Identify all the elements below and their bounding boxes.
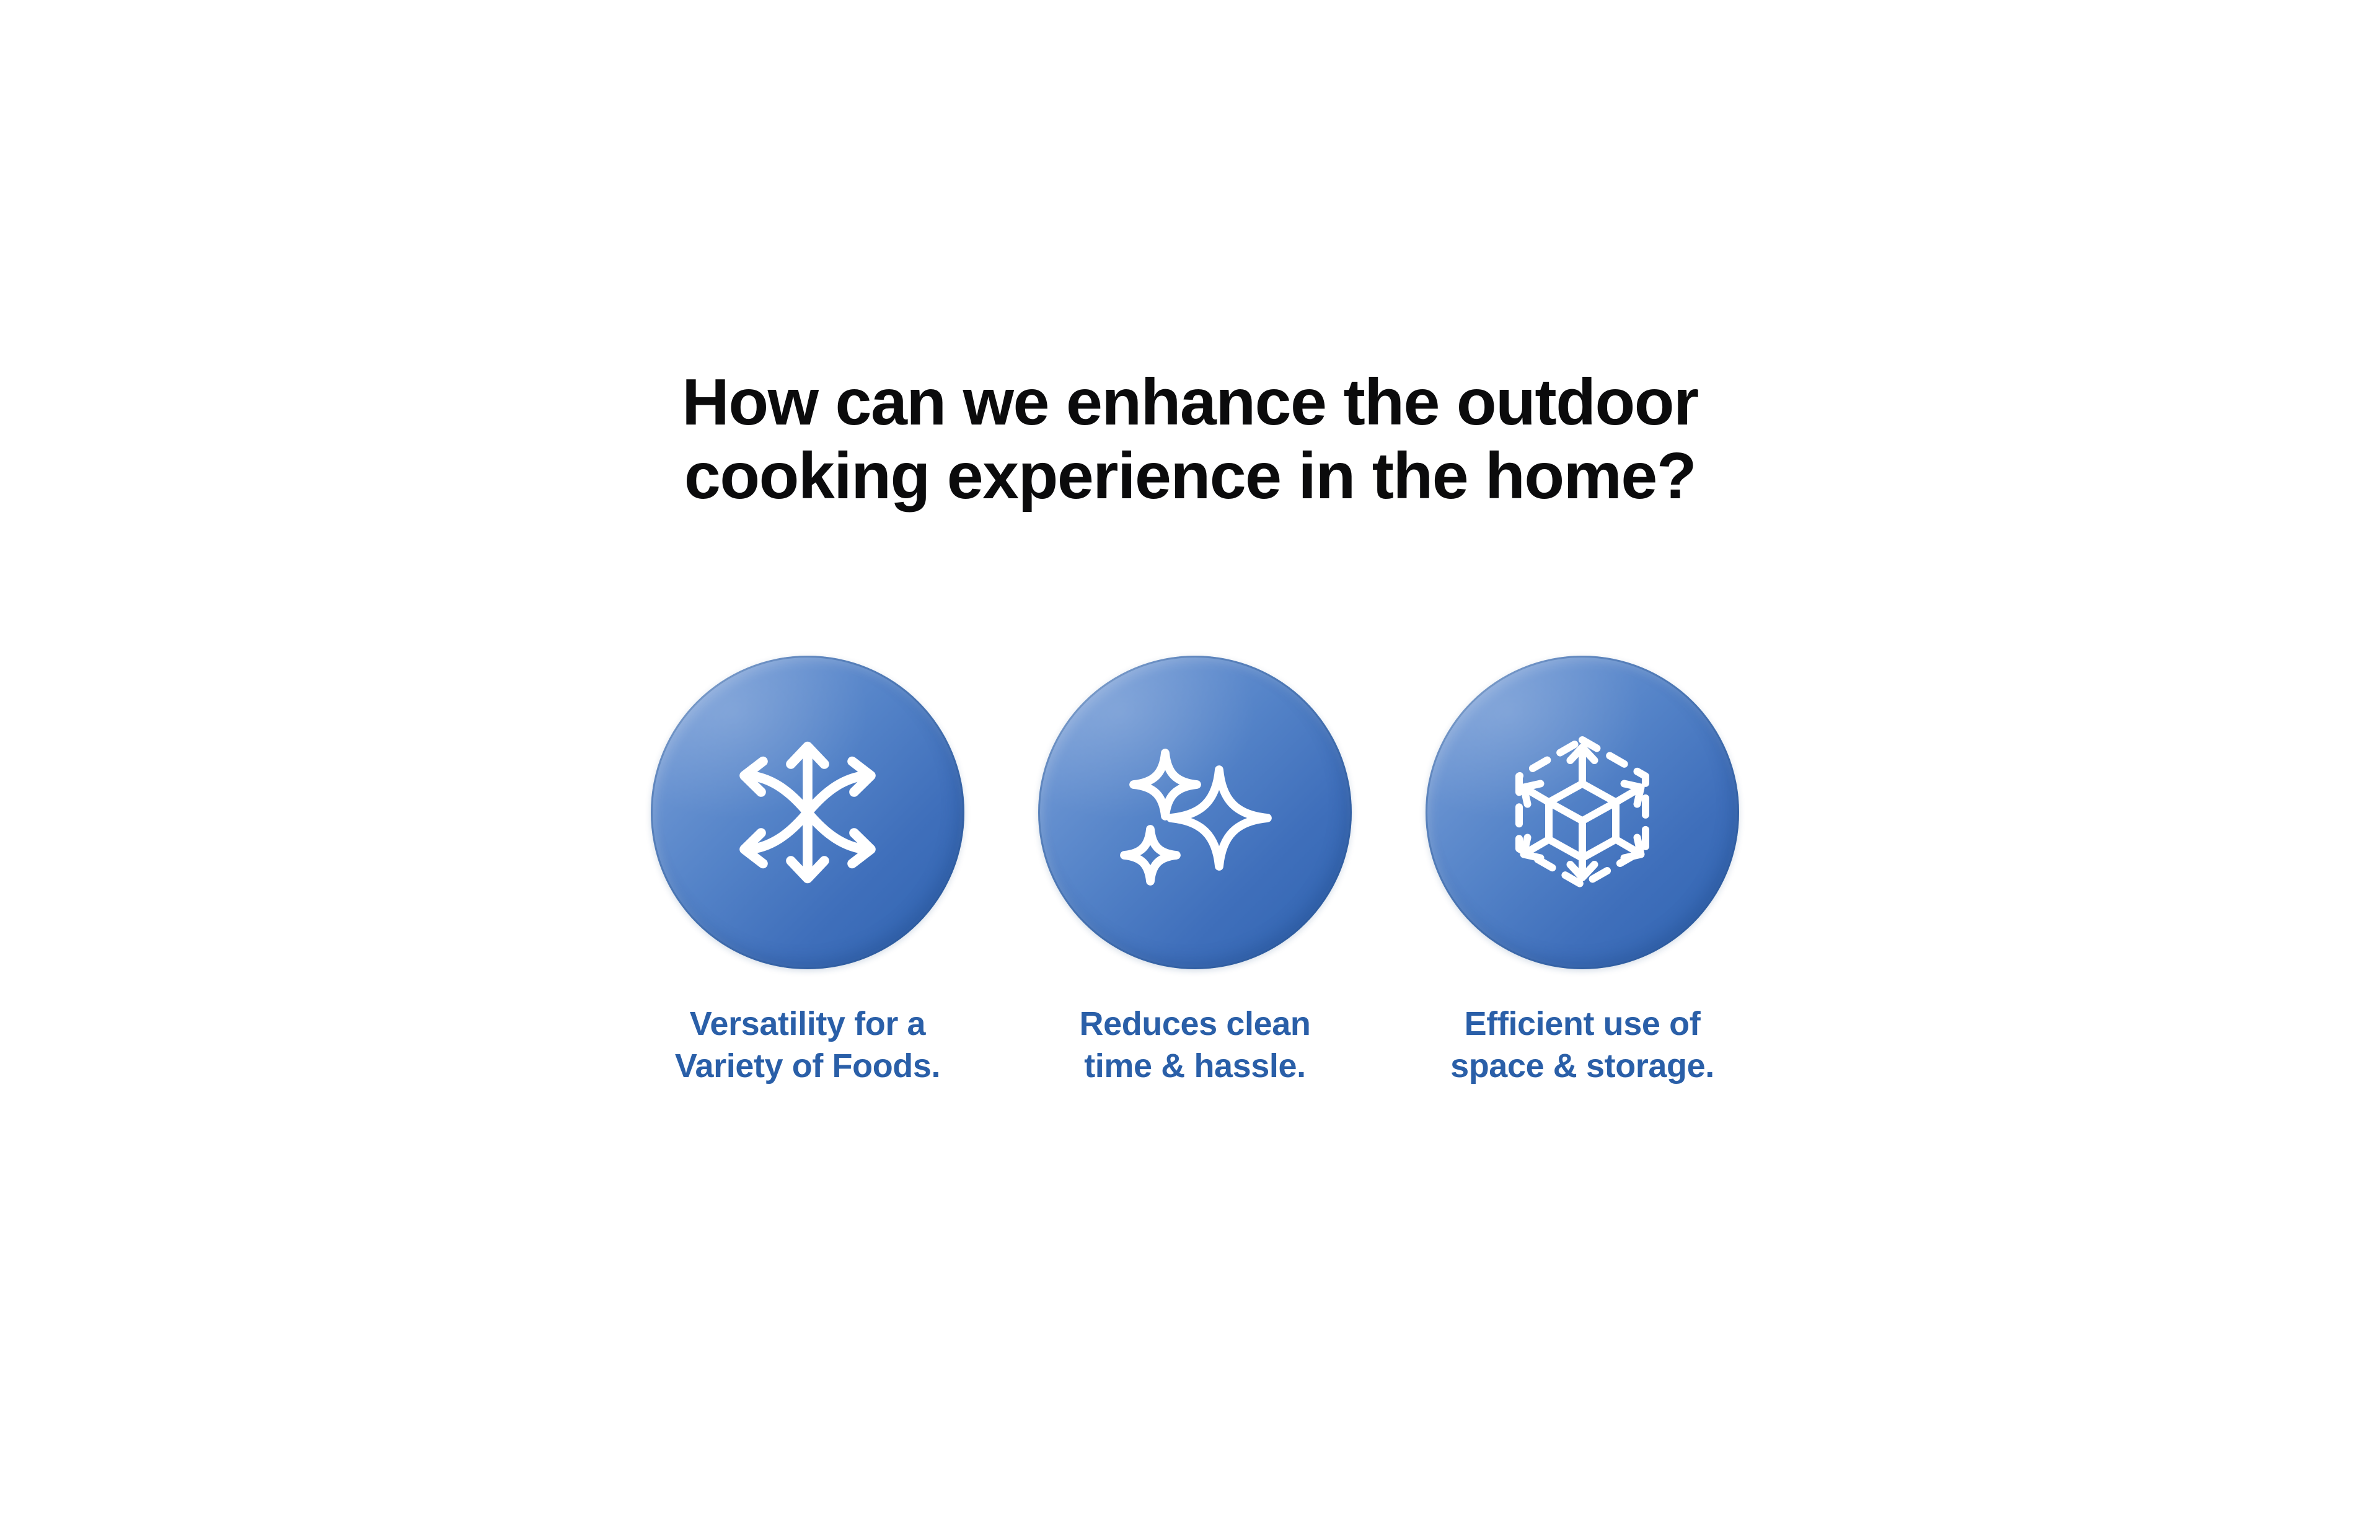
caption-line-1: Versatility for a <box>675 1003 940 1045</box>
benefit-caption-clean: Reduces clean time & hassle. <box>1080 1003 1311 1087</box>
benefit-card-space: Efficient use of space & storage. <box>1426 656 1739 1087</box>
icon-circle-clean <box>1038 656 1352 969</box>
headline-line-1: How can we enhance the outdoor <box>0 366 2380 439</box>
caption-line-2: Variety of Foods. <box>675 1045 940 1087</box>
benefit-caption-space: Efficient use of space & storage. <box>1450 1003 1714 1087</box>
page-title: How can we enhance the outdoor cooking e… <box>0 366 2380 513</box>
benefits-row: Versatility for a Variety of Foods. Redu… <box>651 656 1739 1087</box>
expandable-cube-icon <box>1489 719 1675 905</box>
benefit-caption-versatility: Versatility for a Variety of Foods. <box>675 1003 940 1087</box>
caption-line-2: time & hassle. <box>1080 1045 1311 1087</box>
headline-line-2: cooking experience in the home? <box>0 439 2380 513</box>
benefit-card-versatility: Versatility for a Variety of Foods. <box>651 656 964 1087</box>
caption-line-2: space & storage. <box>1450 1045 1714 1087</box>
slide-canvas: How can we enhance the outdoor cooking e… <box>0 0 2380 1540</box>
icon-circle-space <box>1426 656 1739 969</box>
benefit-card-clean: Reduces clean time & hassle. <box>1038 656 1352 1087</box>
icon-circle-versatility <box>651 656 964 969</box>
caption-line-1: Reduces clean <box>1080 1003 1311 1045</box>
sparkles-icon <box>1102 719 1288 905</box>
caption-line-1: Efficient use of <box>1450 1003 1714 1045</box>
versatility-arrows-icon <box>715 719 901 905</box>
